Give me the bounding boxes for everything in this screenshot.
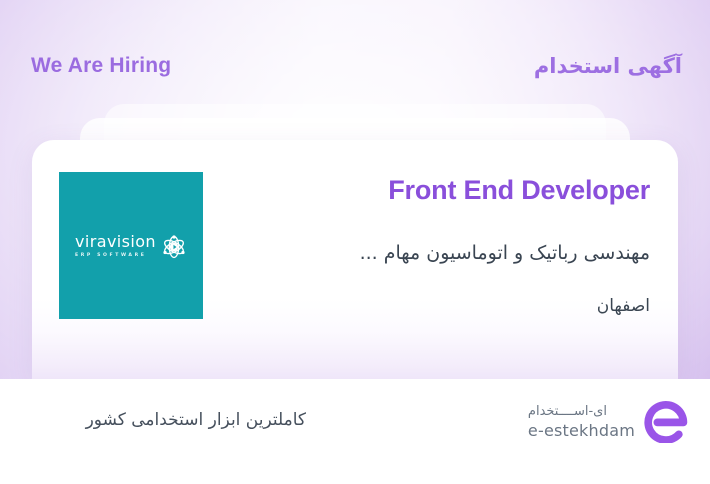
poster-header: We Are Hiring آگهی استخدام — [0, 52, 710, 86]
header-english-label: We Are Hiring — [31, 52, 171, 80]
footer-tagline: کاملترین ابزار استخدامی کشور — [86, 406, 306, 434]
brand-english-name: e-estekhdam — [528, 421, 635, 441]
job-title: Front End Developer — [388, 174, 650, 206]
company-logo-lockup: viravision ERP SOFTWARE — [75, 234, 187, 260]
company-logo-tagline: ERP SOFTWARE — [75, 252, 146, 260]
header-persian-label: آگهی استخدام — [534, 50, 682, 82]
poster-footer: کاملترین ابزار استخدامی کشور ای-اســــتخ… — [0, 379, 710, 484]
company-name: مهندسی رباتیک و اتوماسیون مهام ... — [360, 238, 650, 268]
company-logo-tile: viravision ERP SOFTWARE — [59, 172, 203, 319]
company-logo-name: viravision — [75, 234, 156, 250]
brand-text: ای-اســــتخدام e-estekhdam — [528, 402, 635, 441]
brand-persian-name: ای-اســــتخدام — [528, 402, 607, 421]
job-card-content: viravision ERP SOFTWARE Front End Develo… — [32, 140, 678, 379]
atom-icon — [161, 234, 187, 260]
brand-lockup: ای-اســــتخدام e-estekhdam — [528, 399, 688, 443]
job-ad-poster: We Are Hiring آگهی استخدام — [0, 0, 710, 484]
job-location: اصفهان — [597, 293, 650, 319]
company-logo-text: viravision ERP SOFTWARE — [75, 234, 156, 260]
letter-e-icon — [644, 399, 688, 443]
